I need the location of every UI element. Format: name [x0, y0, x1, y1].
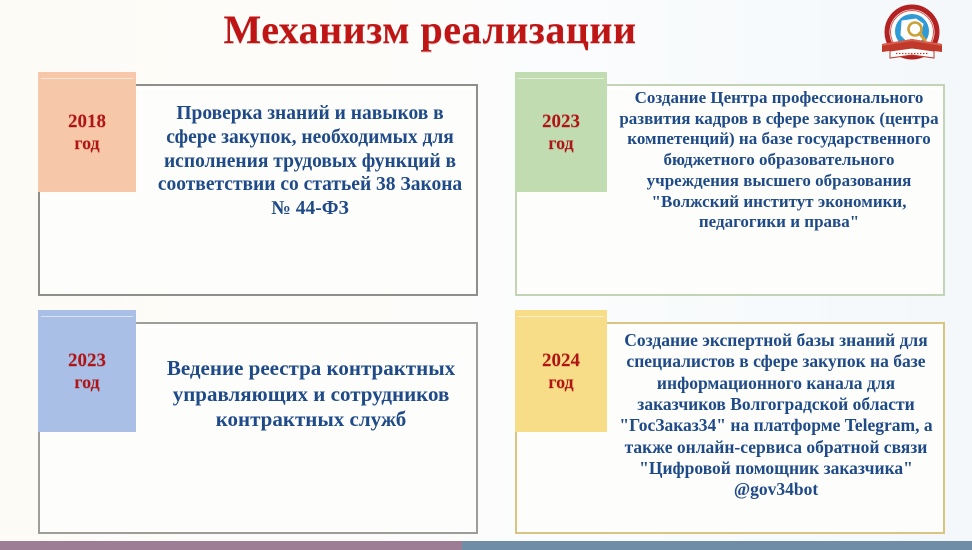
year-number: 2023 [542, 111, 580, 132]
year-number: 2024 [542, 350, 580, 371]
slide-canvas: Механизм реализации 2018 год П [0, 0, 972, 550]
year-number: 2018 [68, 111, 106, 132]
milestone-text-2018: Проверка знаний и навыков в сфере закупо… [150, 102, 470, 221]
bottom-bar-left-segment [0, 541, 462, 550]
year-badge-2023-center: 2023 год [515, 72, 607, 192]
year-word: год [74, 133, 99, 153]
year-badge-2024: 2024 год [515, 310, 607, 432]
year-word: год [548, 372, 573, 392]
bottom-bar-right-segment [462, 541, 972, 550]
milestone-text-2023-center: Создание Центра профессионального развит… [618, 88, 940, 233]
year-number: 2023 [68, 350, 106, 371]
milestone-text-2024: Создание экспертной базы знаний для спец… [612, 330, 940, 501]
page-title: Механизм реализации [0, 8, 860, 52]
organization-emblem-icon [876, 4, 948, 68]
year-badge-2023-registry: 2023 год [38, 310, 136, 432]
bottom-accent-bar [0, 541, 972, 550]
year-word: год [74, 372, 99, 392]
milestone-text-2023-registry: Ведение реестра контрактных управляющих … [150, 356, 472, 433]
year-word: год [548, 133, 573, 153]
year-badge-2018: 2018 год [38, 72, 136, 192]
